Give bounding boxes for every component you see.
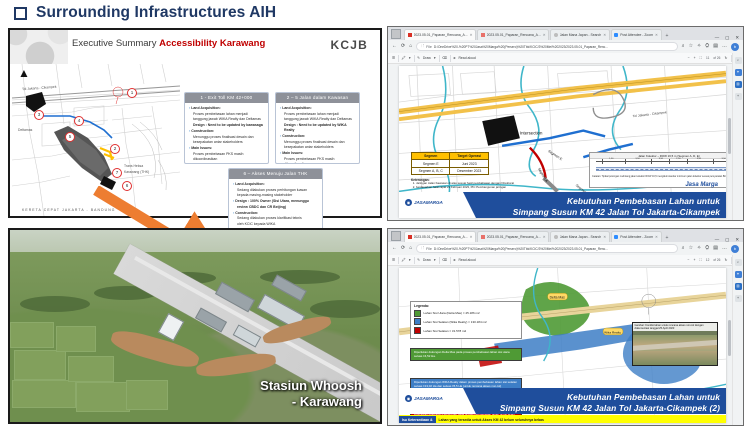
banner-line-2: Simpang Susun KM 42 Jalan Tol Jakarta-Ci… <box>470 207 720 218</box>
list-item: kepada masing-masing stakeholder <box>233 193 318 198</box>
table-row: Segmen A, B, C Desember 2023 <box>412 167 489 174</box>
list-item: Design : Need to be updated by kawasaga <box>189 123 264 128</box>
map-marker-2[interactable]: 2 <box>110 144 120 154</box>
aerial-photo-karawang-station: Stasiun Whoosh - Karawang <box>8 228 382 424</box>
decorative-circles-graphic <box>10 30 68 64</box>
north-arrow-icon: ▲ <box>18 67 29 81</box>
search-icon[interactable]: ⌕ <box>682 246 685 251</box>
minimize-icon[interactable]: — <box>715 238 719 242</box>
browser-tab-3[interactable]: Jalan Mana Japan - Search ✕ <box>550 29 609 40</box>
refresh-icon[interactable]: ⟳ <box>401 44 405 49</box>
pdf-icon <box>481 235 485 239</box>
list-item: Land Acquisition: <box>189 106 264 111</box>
issue-chip-label: Isu Ketersediaan & <box>399 416 436 423</box>
window-menu-icon[interactable] <box>391 29 401 39</box>
divider <box>450 55 451 62</box>
add-icon[interactable]: + <box>735 295 742 302</box>
rotate-icon[interactable]: ↻ <box>724 258 727 262</box>
fit-page-icon[interactable]: ⛶ <box>699 258 701 262</box>
list-item: Construction: <box>280 134 355 139</box>
address-bar[interactable]: 🗋 File D:/OneDrive%20-%20PT%20Jasa%20Mar… <box>416 42 678 51</box>
browser-window-bottom-right: 2023.05.01_Paparan_Rencana_A... ✕ 2023.0… <box>387 228 744 426</box>
chevron-down-icon[interactable]: ▾ <box>434 258 436 262</box>
road-cross-section-graphic <box>596 167 726 171</box>
home-icon[interactable]: ⌂ <box>409 44 412 49</box>
cell-segmen: Segmen A, B, C <box>412 167 450 174</box>
vertical-scrollbar[interactable] <box>728 320 731 356</box>
browser-nav-bar: ← ⟳ ⌂ 🗋 File D:/OneDrive%20-%20PT%20Jasa… <box>388 40 743 53</box>
erase-icon[interactable]: ⌫ <box>442 56 447 60</box>
map-label-deltamas: Deltamas <box>18 128 32 132</box>
minus-icon[interactable]: − <box>687 258 689 262</box>
photo-caption-line-2: - Karawang <box>260 394 362 410</box>
jasa-marga-text: Jasa Marga <box>685 182 718 188</box>
favorite-icon[interactable]: ☆ <box>689 44 693 49</box>
svg-text:Intersection: Intersection <box>520 130 543 135</box>
browser-tab-4[interactable]: Post Attendee - Zoom ✕ <box>611 231 662 242</box>
logo-mark: ◉ <box>405 199 412 206</box>
divider <box>439 257 440 264</box>
pdf-page-content: Intersection Segmen E Segmen A Segmen B … <box>399 66 726 218</box>
divider <box>450 257 451 264</box>
read-aloud-icon[interactable]: 🕪 <box>453 258 455 262</box>
photo-caption: Stasiun Whoosh - Karawang <box>260 378 362 411</box>
add-icon[interactable]: + <box>735 93 742 100</box>
collections-icon[interactable]: ✧ <box>697 246 701 251</box>
slide-title-text: Surrounding Infrastructures AIH <box>36 4 276 22</box>
issue-text: Lahan yang tersedia untuk Akses KM 42 be… <box>436 418 544 422</box>
dimension-value: 3,50 <box>697 158 701 160</box>
info-card-body: Land Acquisition: Proses pembebasan laha… <box>276 103 359 164</box>
list-item: Main Issues: <box>189 146 264 151</box>
collections-icon[interactable]: ▥ <box>735 81 742 88</box>
tab-title: 2023.05.01_Paparan_Rencana_A... <box>487 235 541 239</box>
close-icon[interactable]: ✕ <box>735 36 739 40</box>
address-bar-url: D:/OneDrive%20-%20PT%20Jasa%20Marga%20(P… <box>434 247 608 251</box>
tab-title: 2023.05.01_Paparan_Rencana_A... <box>487 33 541 37</box>
executive-summary-slide: Executive Summary Accessibility Karawang… <box>8 28 382 218</box>
extensions-icon[interactable]: ⛭ <box>705 246 709 251</box>
read-aloud-label[interactable]: Read aloud <box>458 56 475 60</box>
banner-line-1: Kebutuhan Pembebasan Lahan untuk <box>470 392 720 403</box>
close-icon[interactable]: ✕ <box>470 235 473 239</box>
legend-label: Lahan Sisi Utara (Delta Mas) = 45.186 m2 <box>424 311 480 315</box>
logo-text: JASAMARGA <box>414 396 443 401</box>
close-icon[interactable]: ✕ <box>603 33 606 37</box>
close-icon[interactable]: ✕ <box>735 238 739 242</box>
document-issue-bar: Isu Ketersediaan & Lahan yang tersedia u… <box>399 415 726 423</box>
pdf-scroll-area[interactable]: Delta Mas Wika Realty Legenda: Lahan Sis… <box>388 266 732 425</box>
page-number-input[interactable]: 11 <box>706 56 709 60</box>
pdf-icon <box>408 235 412 239</box>
list-item: Proses pembebasan PKS masih dikoordinasi… <box>280 157 355 164</box>
highlight-icon[interactable]: 🖍 <box>402 258 406 262</box>
logo-mark: ◉ <box>405 395 412 402</box>
column-header-target: Target Operasi <box>450 153 489 160</box>
close-icon[interactable]: ✕ <box>543 33 546 37</box>
search-icon <box>554 235 558 239</box>
section-note: Catatan: Tipikal potongan melintang jala… <box>590 174 726 179</box>
list-item: Land Acquisition: <box>280 106 355 111</box>
legend-title: Legenda: <box>414 304 518 308</box>
map-label-trans-heksa: Trans Heksa <box>124 164 143 168</box>
fit-page-icon[interactable]: ⛶ <box>700 56 702 60</box>
browser-tab-3[interactable]: Jalan Mana Japan - Search ✕ <box>550 231 609 242</box>
more-icon[interactable]: … <box>722 246 727 251</box>
file-protocol-icon: 🗋 <box>421 44 424 50</box>
browser-side-rail: ⌕ ✦ ▥ + <box>732 255 743 425</box>
extensions-icon[interactable]: ⛭ <box>705 44 709 49</box>
info-card-body: Land Acquisition: Sedang dilakukan prose… <box>229 179 322 231</box>
list-item: Sedang dilakukan proses perhitungan luas… <box>233 188 318 193</box>
new-tab-button[interactable]: + <box>666 33 669 39</box>
window-controls: — ▢ ✕ <box>715 238 743 242</box>
zoom-icon <box>614 235 618 239</box>
close-icon[interactable]: ✕ <box>603 235 606 239</box>
photo-inset-land-condition: Gambar: Kondisi lahan untuk rencana akse… <box>632 322 718 366</box>
photo-foreground-region <box>633 351 717 365</box>
list-item: Main Issues: <box>280 151 355 156</box>
kcjb-logo: KCJB <box>331 38 368 52</box>
read-aloud-icon[interactable]: 🕪 <box>453 56 455 60</box>
browser-tab-2[interactable]: 2023.05.01_Paparan_Rencana_A... ✕ <box>477 29 549 40</box>
jasamarga-logo: ◉ JASAMARGA <box>405 395 443 402</box>
jasamarga-logo: ◉ JASAMARGA <box>405 199 443 206</box>
browser-window-top-right: 2023.05.01_Paparan_Rencana_A... ✕ 2023.0… <box>387 26 744 221</box>
legend-label: Lahan Sisi Selatan = 31.578 m2 <box>424 329 467 333</box>
list-item: tanggung jawab WIKA Realty dan Deltamas <box>280 117 355 122</box>
browser-tab-1[interactable]: 2023.05.01_Paparan_Rencana_A... ✕ <box>404 231 476 242</box>
search-icon[interactable]: ⌕ <box>735 259 742 266</box>
map-marker-7[interactable]: 7 <box>112 168 122 178</box>
cell-segmen: Segmen E <box>412 160 450 167</box>
info-card-body: Land Acquisition: Proses pembebasan laha… <box>185 103 268 164</box>
document-footer-banner: ◉ JASAMARGA Kebutuhan Pembebasan Lahan u… <box>399 388 726 414</box>
zoom-icon <box>614 33 618 37</box>
copilot-icon[interactable]: ✦ <box>735 69 742 76</box>
legend-row: Lahan Sisi Selatan = 31.578 m2 <box>414 327 518 334</box>
chevron-down-icon[interactable]: ▾ <box>409 258 411 262</box>
browser-tab-4[interactable]: Post Attendee - Zoom ✕ <box>611 29 662 40</box>
info-card-header: 1 - Exit Toll KM 42+000 <box>185 93 268 103</box>
slide-header: Executive Summary Accessibility Karawang… <box>10 30 380 64</box>
legend-swatch-green <box>414 310 421 317</box>
browser-tab-strip: 2023.05.01_Paparan_Rencana_A... ✕ 2023.0… <box>388 27 743 40</box>
segment-schedule-table: Segmen Target Operasi Segmen E Juni 2023… <box>411 152 489 175</box>
tab-title: 2023.05.01_Paparan_Rencana_A... <box>414 235 468 239</box>
logo-text: JASAMARGA <box>414 200 443 205</box>
divider <box>414 257 415 264</box>
banner-line-1: Kebutuhan Pembebasan Lahan untuk <box>470 196 720 207</box>
arrow-left-icon[interactable]: ← <box>392 44 397 49</box>
pdf-viewer-toolbar: ☰ 🖍 ▾ ✎ Draw ▾ ⌫ 🕪 Read aloud − + ⛶ 12 o… <box>388 255 743 266</box>
legend-label: Lahan Sisi Selatan (Wika Realty) = 130.1… <box>424 320 487 324</box>
new-tab-button[interactable]: + <box>666 235 669 241</box>
page-title: Surrounding Infrastructures AIH <box>14 4 276 22</box>
window-menu-icon[interactable] <box>391 231 401 241</box>
close-icon[interactable]: ✕ <box>543 235 546 239</box>
list-item: Design : 100% Owner (Sisi Utara, menungg… <box>233 199 318 204</box>
list-item: Design : Need to be updated by WIKA Real… <box>280 123 355 133</box>
tab-title: Jalan Mana Japan - Search <box>560 235 601 239</box>
legend-box: Legenda: Lahan Sisi Utara (Delta Mas) = … <box>410 301 522 339</box>
close-icon[interactable]: ✕ <box>470 33 473 37</box>
page-total-label: of 26 <box>713 56 720 60</box>
contents-icon[interactable]: ☰ <box>392 258 395 262</box>
map-marker-1[interactable]: 1 <box>127 88 137 98</box>
table-header-row: Segmen Target Operasi <box>412 153 489 160</box>
browser-tab-2[interactable]: 2023.05.01_Paparan_Rencana_A... ✕ <box>477 231 549 242</box>
table-row: Segmen E Juni 2023 <box>412 160 489 167</box>
list-item: berdasarkan hasil rapat 21 Februari 2023… <box>416 186 561 190</box>
aerial-photo-image: Stasiun Whoosh - Karawang <box>10 230 380 422</box>
divider <box>414 55 415 62</box>
browser-essentials-icon[interactable]: ▤ <box>713 44 718 49</box>
list-item: Proses pembebasan PKS masih dikoordinasi… <box>189 152 264 162</box>
plus-icon[interactable]: + <box>693 258 695 262</box>
pdf-icon <box>481 33 485 37</box>
tab-title: 2023.05.01_Paparan_Rencana_A... <box>414 33 468 37</box>
map-marker-3[interactable]: 3 <box>34 110 44 120</box>
page-number-input[interactable]: 12 <box>706 258 710 262</box>
square-bullet-icon <box>14 7 27 20</box>
browser-nav-bar: ← ⟳ ⌂ 🗋 File D:/OneDrive%20-%20PT%20Jasa… <box>388 242 743 255</box>
page-total-label: of 26 <box>713 258 720 262</box>
home-icon[interactable]: ⌂ <box>409 246 412 251</box>
tab-title: Post Attendee - Zoom <box>620 33 653 37</box>
vertical-scrollbar[interactable] <box>728 118 731 154</box>
info-card-header: 2 – 5 Jalan dalam Kawasan <box>276 93 359 103</box>
legend-row: Lahan Sisi Utara (Delta Mas) = 45.186 m2 <box>414 310 518 317</box>
dimension-value: 3,50 <box>635 158 639 160</box>
draw-icon[interactable]: ✎ <box>417 258 420 262</box>
draw-icon[interactable]: ✎ <box>417 56 420 60</box>
photo-inset-caption: Gambar: Kondisi lahan untuk rencana akse… <box>633 323 717 331</box>
list-item: oleh KCIC kepada WIKA <box>233 222 318 227</box>
plus-icon[interactable]: + <box>694 56 696 60</box>
map-marker-5[interactable]: 5 <box>65 132 75 142</box>
more-icon[interactable]: … <box>722 44 727 49</box>
divider <box>398 55 399 62</box>
list-item: Menunggu proses finalisasi desain dan <box>280 140 355 145</box>
close-icon[interactable]: ✕ <box>655 33 658 37</box>
search-icon <box>554 33 558 37</box>
divider <box>439 55 440 62</box>
address-bar[interactable]: 🗋 File D:/OneDrive%20-%20PT%20Jasa%20Mar… <box>416 244 678 253</box>
collections-icon[interactable]: ▥ <box>735 283 742 290</box>
note-box-delta-mas: Diperlukan dukungan Delta Mas pada prose… <box>410 348 522 361</box>
list-item: Land Acquisition: <box>233 182 318 187</box>
slide-header-title: Executive Summary Accessibility Karawang <box>72 38 265 49</box>
banner-line-2: Simpang Susun KM 42 Jalan Tol Jakarta-Ci… <box>470 403 720 414</box>
maximize-icon[interactable]: ▢ <box>725 238 729 242</box>
list-item: Construction: <box>233 211 318 216</box>
list-item: review CBDC dan CR Beijing) <box>233 205 318 210</box>
draw-label[interactable]: Draw <box>423 258 431 262</box>
list-item: tanggung jawab WIKA Realty dan Deltamas <box>189 117 264 122</box>
pdf-scroll-area[interactable]: Intersection Segmen E Segmen A Segmen B … <box>388 64 732 220</box>
dimension-value: 3,50 <box>722 158 726 160</box>
banner-title: Kebutuhan Pembebasan Lahan untuk Simpang… <box>470 392 720 414</box>
keterangan-block: Keterangan: Jaringan Jalan Kawasan di at… <box>411 178 561 190</box>
highlight-icon[interactable]: 🖍 <box>402 56 406 60</box>
minus-icon[interactable]: − <box>688 56 690 60</box>
browser-side-rail: ⌕ ✦ ▥ + <box>732 53 743 220</box>
profile-avatar[interactable]: b <box>731 43 739 51</box>
browser-tab-1[interactable]: 2023.05.01_Paparan_Rencana_A... ✕ <box>404 29 476 40</box>
svg-text:Delta Mas: Delta Mas <box>550 296 565 300</box>
list-item: Proses pembebasan lahan menjadi <box>189 112 264 117</box>
erase-icon[interactable]: ⌫ <box>442 258 447 262</box>
dimension-value: 1,50 <box>609 158 613 160</box>
photo-caption-line-1: Stasiun Whoosh <box>260 378 362 394</box>
pdf-page-content: Delta Mas Wika Realty Legenda: Lahan Sis… <box>399 268 726 423</box>
maximize-icon[interactable]: ▢ <box>725 36 729 40</box>
tab-title: Post Attendee - Zoom <box>620 235 653 239</box>
cell-target: Desember 2023 <box>450 167 489 174</box>
file-label: File <box>426 247 432 251</box>
accessibility-map: ▲ Tol Jakarta - Cikampek Deltamas Trans … <box>12 64 180 216</box>
pdf-viewer-toolbar: ☰ 🖍 ▾ ✎ Draw ▾ ⌫ 🕪 Read aloud − + ⛶ 11 o… <box>388 53 743 64</box>
draw-label[interactable]: Draw <box>423 56 431 60</box>
tab-title: Jalan Mana Japan - Search <box>560 33 601 37</box>
info-card-header: 6 – Akses Menuju Jalan THK <box>229 169 322 179</box>
search-icon[interactable]: ⌕ <box>682 44 685 49</box>
info-card-exit-toll: 1 - Exit Toll KM 42+000 Land Acquisition… <box>184 92 269 164</box>
map-caption: KERETA CEPAT JAKARTA - BANDUNG <box>22 208 115 212</box>
rotate-icon[interactable]: ↻ <box>724 56 727 60</box>
map-marker-4[interactable]: 4 <box>74 116 84 126</box>
profile-avatar[interactable]: b <box>731 245 739 253</box>
list-item: Proses pembebasan lahan menjadi <box>280 112 355 117</box>
legend-row: Lahan Sisi Selatan (Wika Realty) = 130.1… <box>414 318 518 325</box>
refresh-icon[interactable]: ⟳ <box>401 246 405 251</box>
file-label: File <box>426 45 432 49</box>
column-header-segmen: Segmen <box>412 153 450 160</box>
banner-title: Kebutuhan Pembebasan Lahan untuk Simpang… <box>470 196 720 218</box>
list-item: Sedang dilakukan proses klarifikasi tekn… <box>233 216 318 221</box>
contents-icon[interactable]: ☰ <box>392 56 395 60</box>
dimension-value: 1,50 <box>676 158 680 160</box>
browser-essentials-icon[interactable]: ▤ <box>713 246 718 251</box>
list-item: Menunggu proses finalisasi desain dan <box>189 135 264 140</box>
chevron-down-icon[interactable]: ▾ <box>409 56 411 60</box>
jasa-marga-watermark: Jasa Marga <box>685 182 718 188</box>
list-item: antara KCIC, Jasamarga, WIKA Realty, <box>189 163 264 164</box>
search-icon[interactable]: ⌕ <box>735 57 742 64</box>
minimize-icon[interactable]: — <box>715 36 719 40</box>
file-protocol-icon: 🗋 <box>421 246 424 252</box>
info-card-jalan-dalam-kawasan: 2 – 5 Jalan dalam Kawasan Land Acquisiti… <box>275 92 360 164</box>
address-bar-url: D:/OneDrive%20-%20PT%20Jasa%20Marga%20(P… <box>434 45 608 49</box>
copilot-icon[interactable]: ✦ <box>735 271 742 278</box>
divider <box>398 257 399 264</box>
document-footer-banner: ◉ JASAMARGA Kebutuhan Pembebasan Lahan u… <box>399 192 726 218</box>
window-controls: — ▢ ✕ <box>715 36 743 40</box>
close-icon[interactable]: ✕ <box>655 235 658 239</box>
browser-tab-strip: 2023.05.01_Paparan_Rencana_A... ✕ 2023.0… <box>388 229 743 242</box>
read-aloud-label[interactable]: Read aloud <box>458 258 475 262</box>
legend-swatch-blue <box>414 318 421 325</box>
collections-icon[interactable]: ✧ <box>697 44 701 49</box>
map-marker-6[interactable]: 6 <box>122 181 132 191</box>
list-item: kesepakatan antar stakeholders <box>189 140 264 145</box>
list-item: Construction: <box>189 129 264 134</box>
svg-text:Wika Realty: Wika Realty <box>604 330 621 334</box>
map-label-karawang-thk: Karawang (THK) <box>124 170 149 174</box>
cell-target: Juni 2023 <box>450 160 489 167</box>
dimension-row: 1,50 3,50 3,50 1,50 3,50 3,50 <box>596 159 726 164</box>
dimension-value: 3,50 <box>659 158 663 160</box>
legend-swatch-red <box>414 327 421 334</box>
pdf-icon <box>408 33 412 37</box>
list-item: kesepakatan antar stakeholders <box>280 145 355 150</box>
chevron-down-icon[interactable]: ▾ <box>434 56 436 60</box>
arrow-left-icon[interactable]: ← <box>392 246 397 251</box>
favorite-icon[interactable]: ☆ <box>689 246 693 251</box>
